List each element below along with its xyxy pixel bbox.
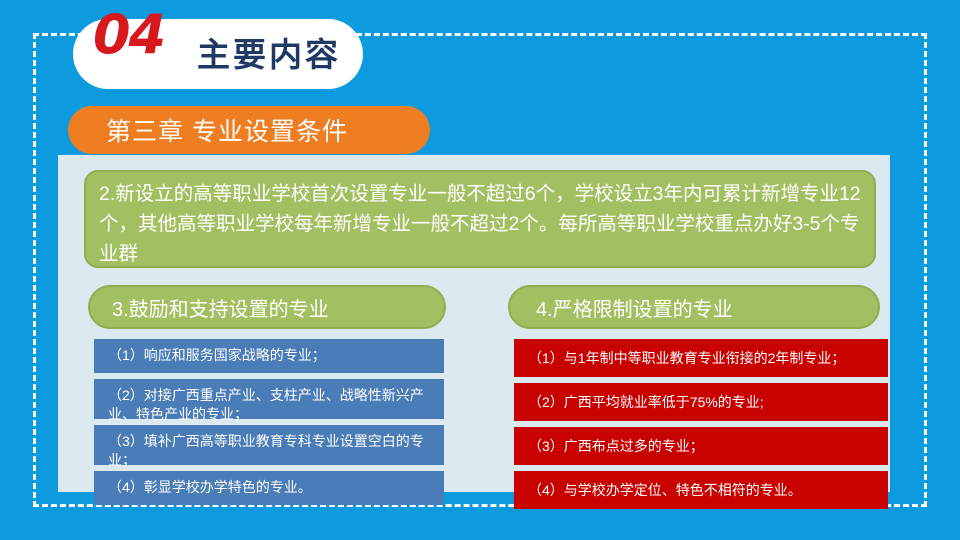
- chapter-banner: 第三章 专业设置条件: [68, 106, 430, 154]
- list-item: （1）响应和服务国家战略的专业；: [94, 339, 444, 373]
- list-item: （3）广西布点过多的专业；: [514, 427, 888, 465]
- list-item: （4）彰显学校办学特色的专业。: [94, 471, 444, 505]
- highlight-note-text: 2.新设立的高等职业学校首次设置专业一般不超过6个，学校设立3年内可累计新增专业…: [99, 179, 861, 269]
- column-header-label: 3.鼓励和支持设置的专业: [112, 293, 329, 322]
- column-header-label: 4.严格限制设置的专业: [536, 293, 733, 322]
- chapter-banner-label: 第三章 专业设置条件: [106, 112, 348, 148]
- column-restricted-majors: 4.严格限制设置的专业 （1）与1年制中等职业教育专业衔接的2年制专业； （2）…: [508, 285, 878, 515]
- section-number-badge: 04: [93, 8, 164, 62]
- slide-canvas: 主要内容 04 第三章 专业设置条件 2.新设立的高等职业学校首次设置专业一般不…: [0, 0, 960, 540]
- highlight-note-box: 2.新设立的高等职业学校首次设置专业一般不超过6个，学校设立3年内可累计新增专业…: [84, 170, 876, 268]
- page-title: 主要内容: [197, 38, 341, 71]
- list-item: （2）对接广西重点产业、支柱产业、战略性新兴产业、特色产业的专业；: [94, 379, 444, 419]
- column-encouraged-majors: 3.鼓励和支持设置的专业 （1）响应和服务国家战略的专业； （2）对接广西重点产…: [88, 285, 458, 511]
- list-item: （1）与1年制中等职业教育专业衔接的2年制专业；: [514, 339, 888, 377]
- column-header-encouraged: 3.鼓励和支持设置的专业: [88, 285, 446, 329]
- column-header-restricted: 4.严格限制设置的专业: [508, 285, 880, 329]
- list-item: （4）与学校办学定位、特色不相符的专业。: [514, 471, 888, 509]
- list-item: （3）填补广西高等职业教育专科专业设置空白的专业；: [94, 425, 444, 465]
- list-item: （2）广西平均就业率低于75%的专业;: [514, 383, 888, 421]
